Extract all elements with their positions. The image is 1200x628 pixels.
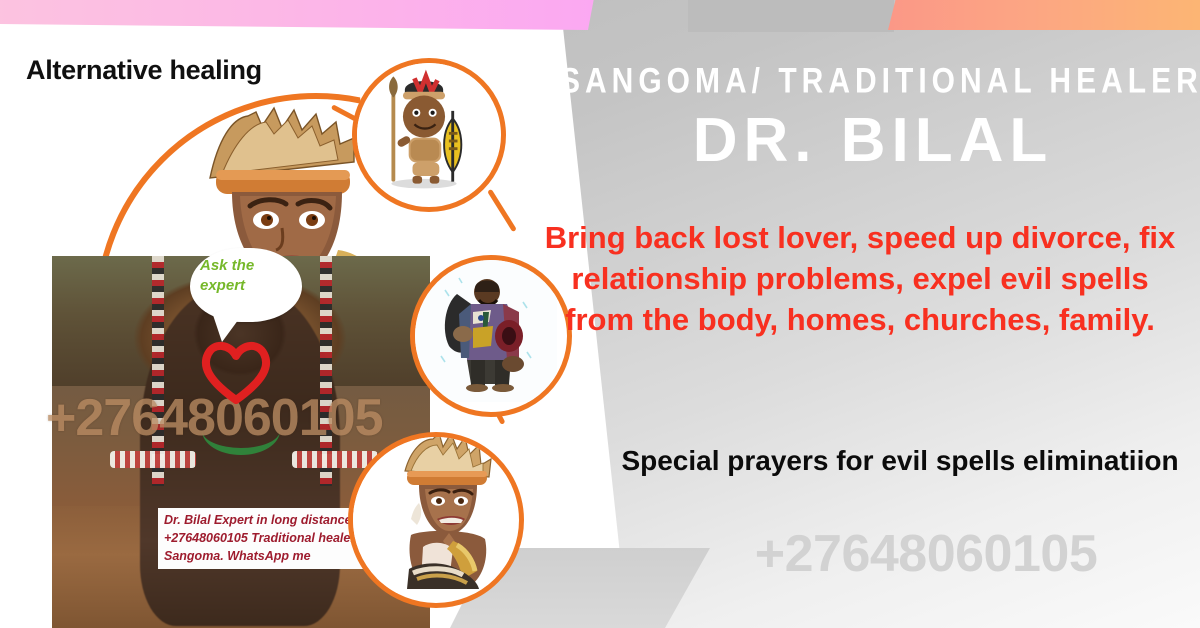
special-prayers-text: Special prayers for evil spells eliminat…	[614, 442, 1186, 480]
connector-line-2	[487, 189, 517, 232]
doctor-name-title: DR. BILAL	[560, 105, 1186, 176]
speech-bubble-label: Ask the expert	[200, 256, 296, 297]
top-orange-gradient-bar	[888, 0, 1200, 30]
contact-phone-watermark: +27648060105	[666, 524, 1186, 584]
bubble-kneeling-sangoma	[348, 432, 524, 608]
speech-bubble-tail	[212, 312, 244, 342]
page-title: Alternative healing	[26, 55, 262, 86]
top-gray-bar	[688, 0, 894, 32]
photo-armband-left	[110, 451, 196, 468]
poster-canvas: Alternative healing	[0, 0, 1200, 628]
kneeling-sangoma-icon	[353, 437, 509, 593]
zulu-warrior-icon	[357, 63, 491, 197]
services-description: Bring back lost lover, speed up divorce,…	[536, 218, 1184, 341]
heart-icon	[198, 338, 274, 404]
top-pink-gradient-bar	[0, 0, 600, 30]
kicker-headline: SANGOMA/ TRADITIONAL HEALER	[560, 62, 1186, 102]
bubble-zulu-warrior-cartoon	[352, 58, 506, 212]
photo-armband-right	[292, 451, 378, 468]
